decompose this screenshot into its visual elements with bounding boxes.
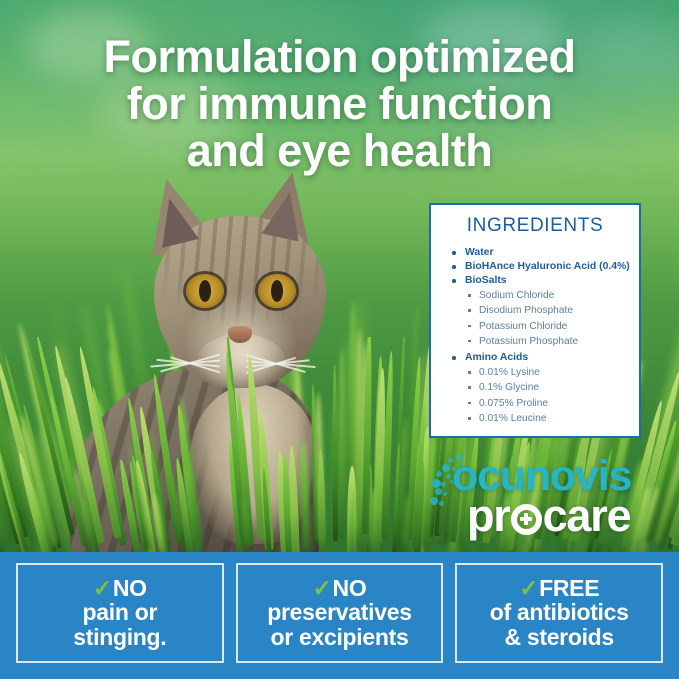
bullet-icon — [452, 251, 456, 255]
logo-dot — [432, 479, 441, 488]
ingredient-subitem-label: Potassium Chloride — [479, 321, 567, 332]
ingredient-subitem: Sodium Chloride — [465, 288, 631, 303]
ingredient-subitem-label: 0.01% Leucine — [479, 413, 546, 424]
logo-product-prefix: pr — [467, 490, 510, 542]
logo-dot — [441, 482, 446, 487]
headline-line-1: Formulation optimized — [26, 34, 653, 81]
claim-box-1: ✓NO pain or stinging. — [16, 563, 224, 663]
logo-dot — [435, 488, 442, 495]
ingredient-label: BioSalts — [465, 275, 507, 286]
bullet-icon — [452, 279, 456, 283]
logo-plus-o-icon — [511, 504, 542, 535]
logo-product-text: prcare — [467, 490, 630, 542]
ingredient-item: Amino Acids0.01% Lysine0.1% Glycine0.075… — [451, 351, 631, 426]
sub-bullet-icon — [468, 325, 471, 328]
claim-1-line-3: stinging. — [73, 625, 166, 649]
ingredient-label: Water — [465, 247, 493, 258]
sub-bullet-icon — [468, 386, 471, 389]
check-icon-2: ✓ — [313, 576, 332, 600]
ingredient-subitem-label: 0.075% Proline — [479, 398, 548, 409]
headline-line-2: for immune function — [26, 81, 653, 128]
claims-banner: ✓NO pain or stinging. ✓NO preservatives … — [0, 552, 679, 679]
cat-eye-right — [258, 274, 296, 308]
logo-dot — [443, 492, 447, 496]
bullet-icon — [452, 356, 456, 360]
sub-bullet-icon — [468, 309, 471, 312]
ingredient-subitem: 0.01% Lysine — [465, 365, 631, 380]
ingredient-subitem: 0.1% Glycine — [465, 380, 631, 395]
ingredient-subitem-label: 0.01% Lysine — [479, 367, 540, 378]
ingredient-subitem-label: Potassium Phosphate — [479, 336, 578, 347]
claim-2-line-1: NO — [333, 575, 367, 601]
claim-box-2: ✓NO preservatives or excipients — [236, 563, 444, 663]
claim-3-line-2: of antibiotics — [490, 600, 629, 624]
logo-dot — [436, 471, 442, 477]
ingredient-item: BioSaltsSodium ChlorideDisodium Phosphat… — [451, 274, 631, 349]
logo-dot — [430, 497, 438, 505]
ingredient-sublist: 0.01% Lysine0.1% Glycine0.075% Proline0.… — [465, 365, 631, 426]
claim-1-line-2: pain or — [73, 600, 166, 624]
claim-2-line-2: preservatives — [267, 600, 411, 624]
brand-logo: ocunovis prcare — [430, 452, 645, 540]
check-icon-3: ✓ — [519, 576, 538, 600]
ingredient-subitem: Disodium Phosphate — [465, 303, 631, 318]
claim-box-3: ✓FREE of antibiotics & steroids — [455, 563, 663, 663]
product-infographic: Formulation optimized for immune functio… — [0, 0, 679, 679]
ingredients-card: INGREDIENTS WaterBioHAnce Hyaluronic Aci… — [429, 203, 641, 438]
sub-bullet-icon — [468, 371, 471, 374]
sub-bullet-icon — [468, 294, 471, 297]
check-icon-1: ✓ — [93, 576, 112, 600]
sub-bullet-icon — [468, 417, 471, 420]
ingredients-list: WaterBioHAnce Hyaluronic Acid (0.4%)BioS… — [451, 246, 631, 426]
sub-bullet-icon — [468, 340, 471, 343]
grass-blade — [314, 393, 325, 542]
bullet-icon — [452, 265, 456, 269]
ingredient-subitem: 0.075% Proline — [465, 396, 631, 411]
ingredient-subitem: Potassium Chloride — [465, 319, 631, 334]
headline-line-3: and eye health — [26, 128, 653, 175]
claim-3-line-3: & steroids — [490, 625, 629, 649]
ingredient-subitem: Potassium Phosphate — [465, 334, 631, 349]
ingredient-sublist: Sodium ChlorideDisodium PhosphatePotassi… — [465, 288, 631, 349]
ingredient-item: BioHAnce Hyaluronic Acid (0.4%) — [451, 260, 631, 273]
grass-blade — [332, 365, 338, 541]
ingredient-subitem: 0.01% Leucine — [465, 411, 631, 426]
cat-eye-left — [186, 274, 224, 308]
ingredient-label: BioHAnce Hyaluronic Acid (0.4%) — [465, 261, 630, 272]
ingredient-subitem-label: Disodium Phosphate — [479, 305, 573, 316]
claim-2-line-3: or excipients — [267, 625, 411, 649]
grass-blade — [300, 439, 310, 550]
ingredient-item: Water — [451, 246, 631, 259]
page-title: Formulation optimized for immune functio… — [0, 34, 679, 174]
logo-dot — [442, 464, 450, 472]
logo-product-suffix: care — [543, 490, 631, 542]
ingredient-label: Amino Acids — [465, 352, 528, 363]
ingredients-heading: INGREDIENTS — [439, 215, 631, 237]
ingredient-subitem-label: 0.1% Glycine — [479, 382, 539, 393]
sub-bullet-icon — [468, 402, 471, 405]
logo-dot — [439, 501, 444, 506]
claim-3-line-1: FREE — [539, 575, 599, 601]
logo-dot — [446, 474, 451, 479]
claim-1-line-1: NO — [113, 575, 147, 601]
ingredient-subitem-label: Sodium Chloride — [479, 290, 554, 301]
